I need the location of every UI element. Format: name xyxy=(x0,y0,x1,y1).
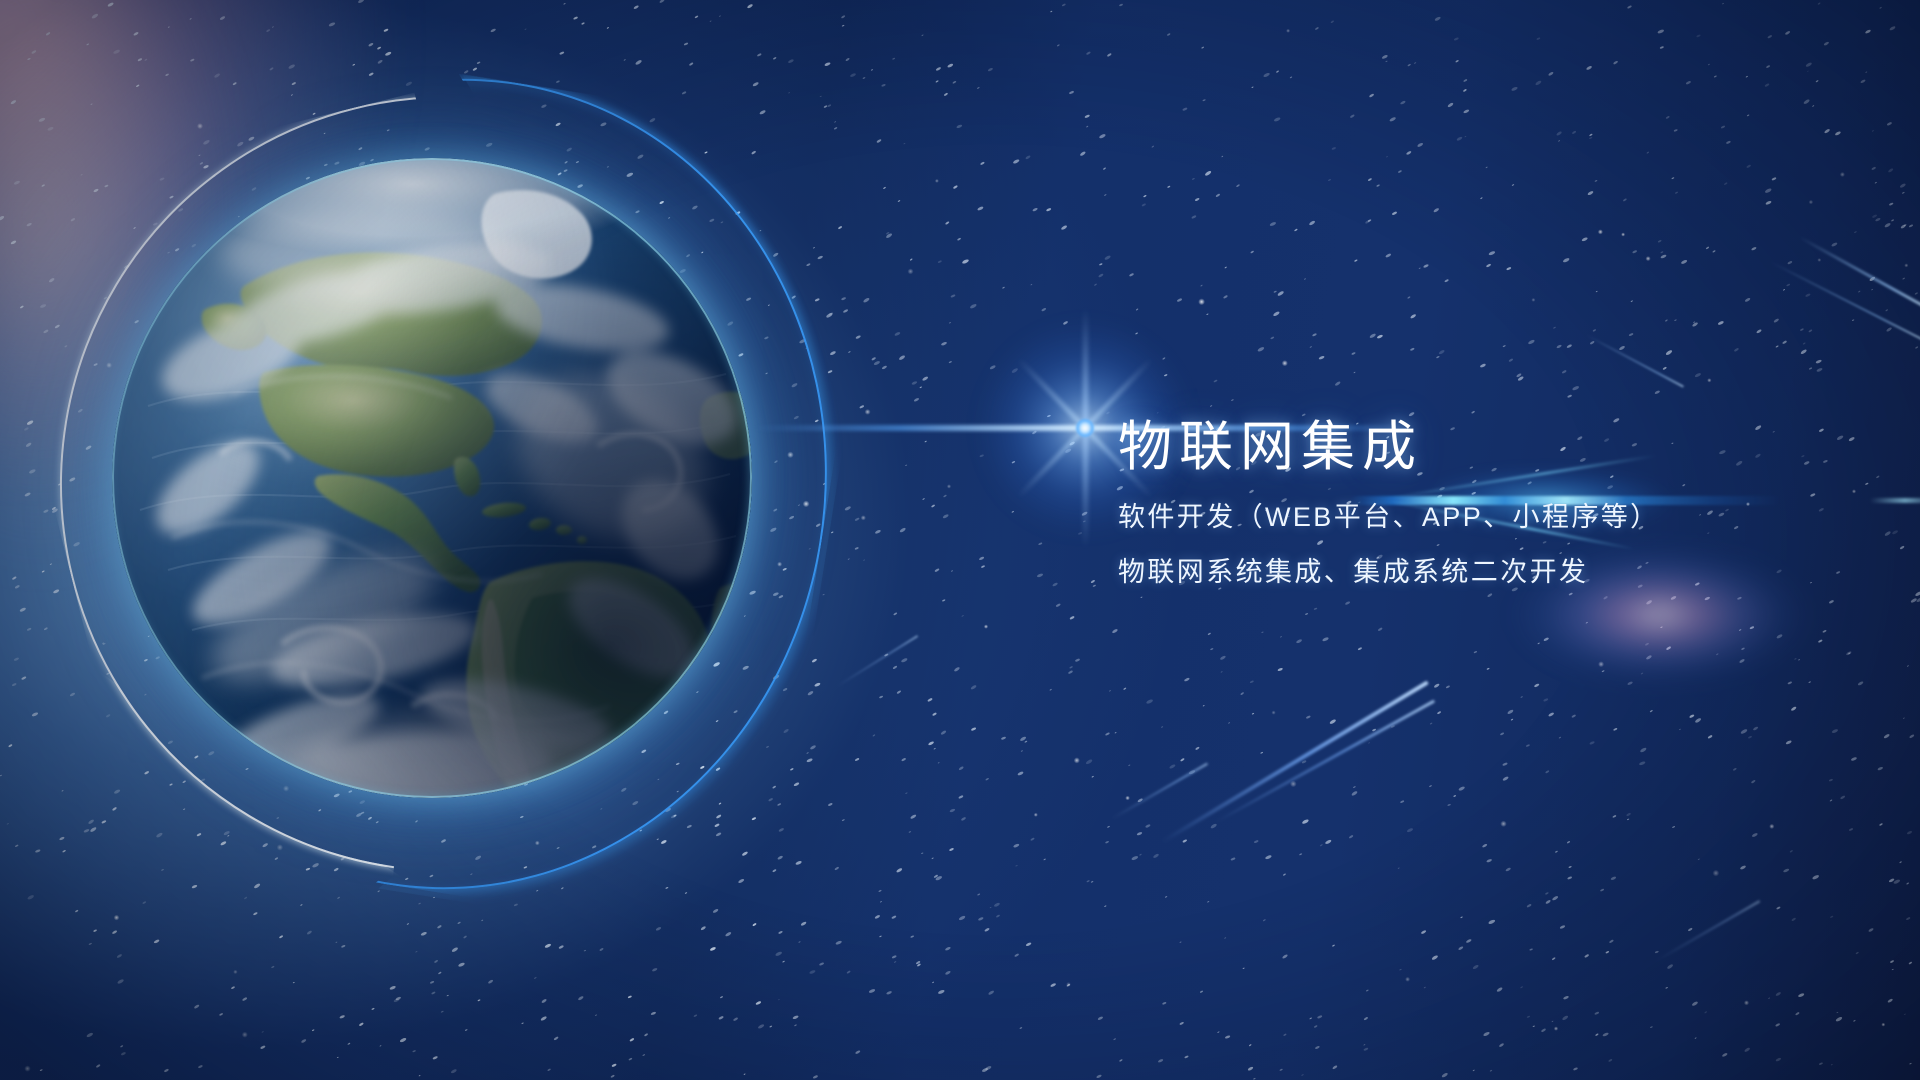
page-title: 物联网集成 xyxy=(1118,416,1878,480)
hero-subtitle-1: 软件开发（WEB平台、APP、小程序等） xyxy=(1118,504,1878,531)
earth-sphere xyxy=(112,158,752,798)
earth-map-art xyxy=(112,158,752,798)
hero-banner: 物联网集成 软件开发（WEB平台、APP、小程序等） 物联网系统集成、集成系统二… xyxy=(0,0,1920,1080)
earth-globe xyxy=(112,158,752,798)
hero-text-block: 物联网集成 软件开发（WEB平台、APP、小程序等） 物联网系统集成、集成系统二… xyxy=(1118,416,1878,586)
hero-subtitle-2: 物联网系统集成、集成系统二次开发 xyxy=(1118,559,1878,586)
hero-subtitle-list: 软件开发（WEB平台、APP、小程序等） 物联网系统集成、集成系统二次开发 xyxy=(1118,504,1878,586)
